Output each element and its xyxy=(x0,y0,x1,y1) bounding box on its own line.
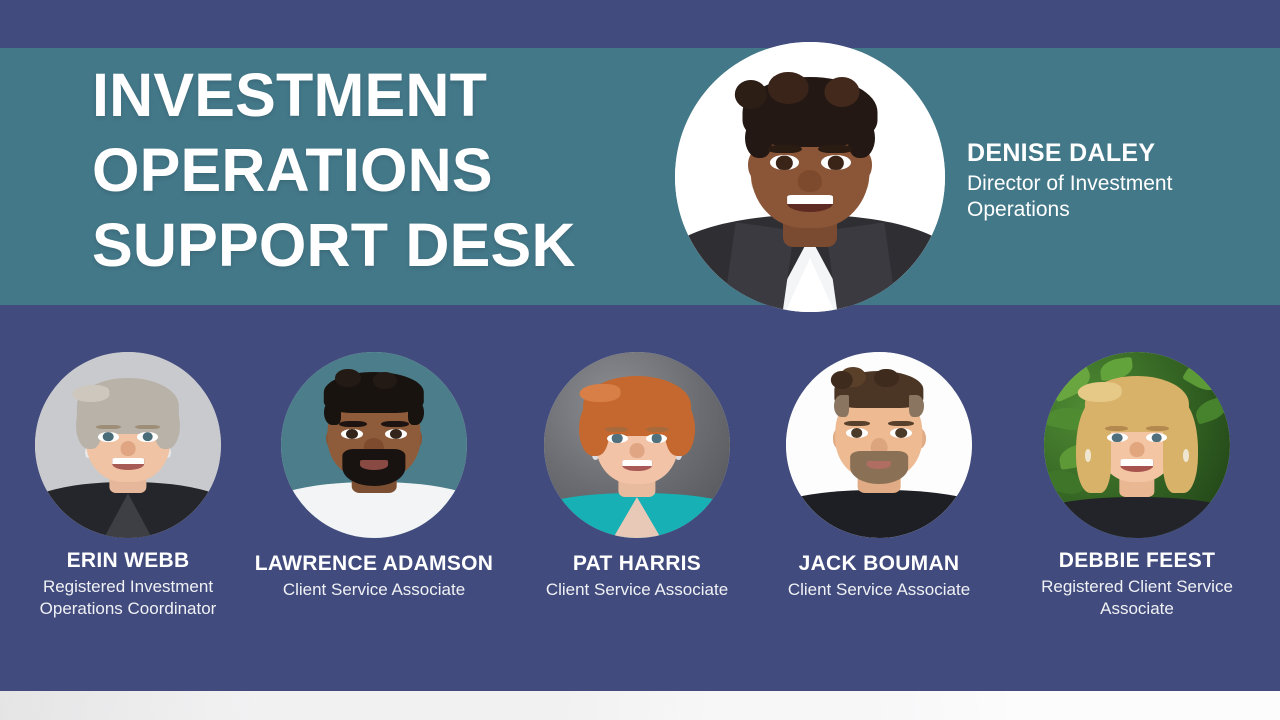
denise-daley-portrait-image xyxy=(675,42,945,312)
team-row: ERIN WEBB Registered Investment Operatio… xyxy=(0,352,1280,632)
title-line-3: SUPPORT DESK xyxy=(92,208,672,283)
pat-harris-portrait-image xyxy=(544,352,730,538)
member-role: Registered Client Service Associate xyxy=(1015,576,1259,620)
title-line-1: INVESTMENT xyxy=(92,58,672,133)
title-line-2: OPERATIONS xyxy=(92,133,672,208)
lead-role-line-2: Operations xyxy=(967,197,1267,223)
member-name: JACK BOUMAN xyxy=(757,551,1001,576)
lawrence-adamson-portrait-image xyxy=(281,352,467,538)
debbie-feest-portrait-image xyxy=(1044,352,1230,538)
erin-webb-portrait-image xyxy=(35,352,221,538)
lead-role-line-1: Director of Investment xyxy=(967,171,1267,197)
team-member-debbie-feest: DEBBIE FEEST Registered Client Service A… xyxy=(1015,352,1259,620)
member-name: LAWRENCE ADAMSON xyxy=(252,551,496,576)
slide-canvas: INVESTMENT OPERATIONS SUPPORT DESK xyxy=(0,0,1280,720)
lead-name: DENISE DALEY xyxy=(967,138,1267,168)
avatar xyxy=(786,352,972,538)
lead-avatar xyxy=(675,42,945,312)
avatar xyxy=(35,352,221,538)
team-member-jack-bouman: JACK BOUMAN Client Service Associate xyxy=(757,352,1001,601)
team-member-lawrence-adamson: LAWRENCE ADAMSON Client Service Associat… xyxy=(252,352,496,601)
member-role: Client Service Associate xyxy=(757,579,1001,601)
member-role: Client Service Associate xyxy=(515,579,759,601)
member-name: DEBBIE FEEST xyxy=(1015,548,1259,573)
team-member-pat-harris: PAT HARRIS Client Service Associate xyxy=(515,352,759,601)
member-name: PAT HARRIS xyxy=(515,551,759,576)
member-name: ERIN WEBB xyxy=(6,548,250,573)
bottom-paper-strip xyxy=(0,691,1280,720)
member-role: Registered Investment Operations Coordin… xyxy=(6,576,250,620)
team-member-erin-webb: ERIN WEBB Registered Investment Operatio… xyxy=(6,352,250,620)
member-role: Client Service Associate xyxy=(252,579,496,601)
avatar xyxy=(1044,352,1230,538)
avatar xyxy=(544,352,730,538)
jack-bouman-portrait-image xyxy=(786,352,972,538)
avatar xyxy=(281,352,467,538)
lead-info: DENISE DALEY Director of Investment Oper… xyxy=(967,138,1267,223)
page-title: INVESTMENT OPERATIONS SUPPORT DESK xyxy=(92,58,672,283)
